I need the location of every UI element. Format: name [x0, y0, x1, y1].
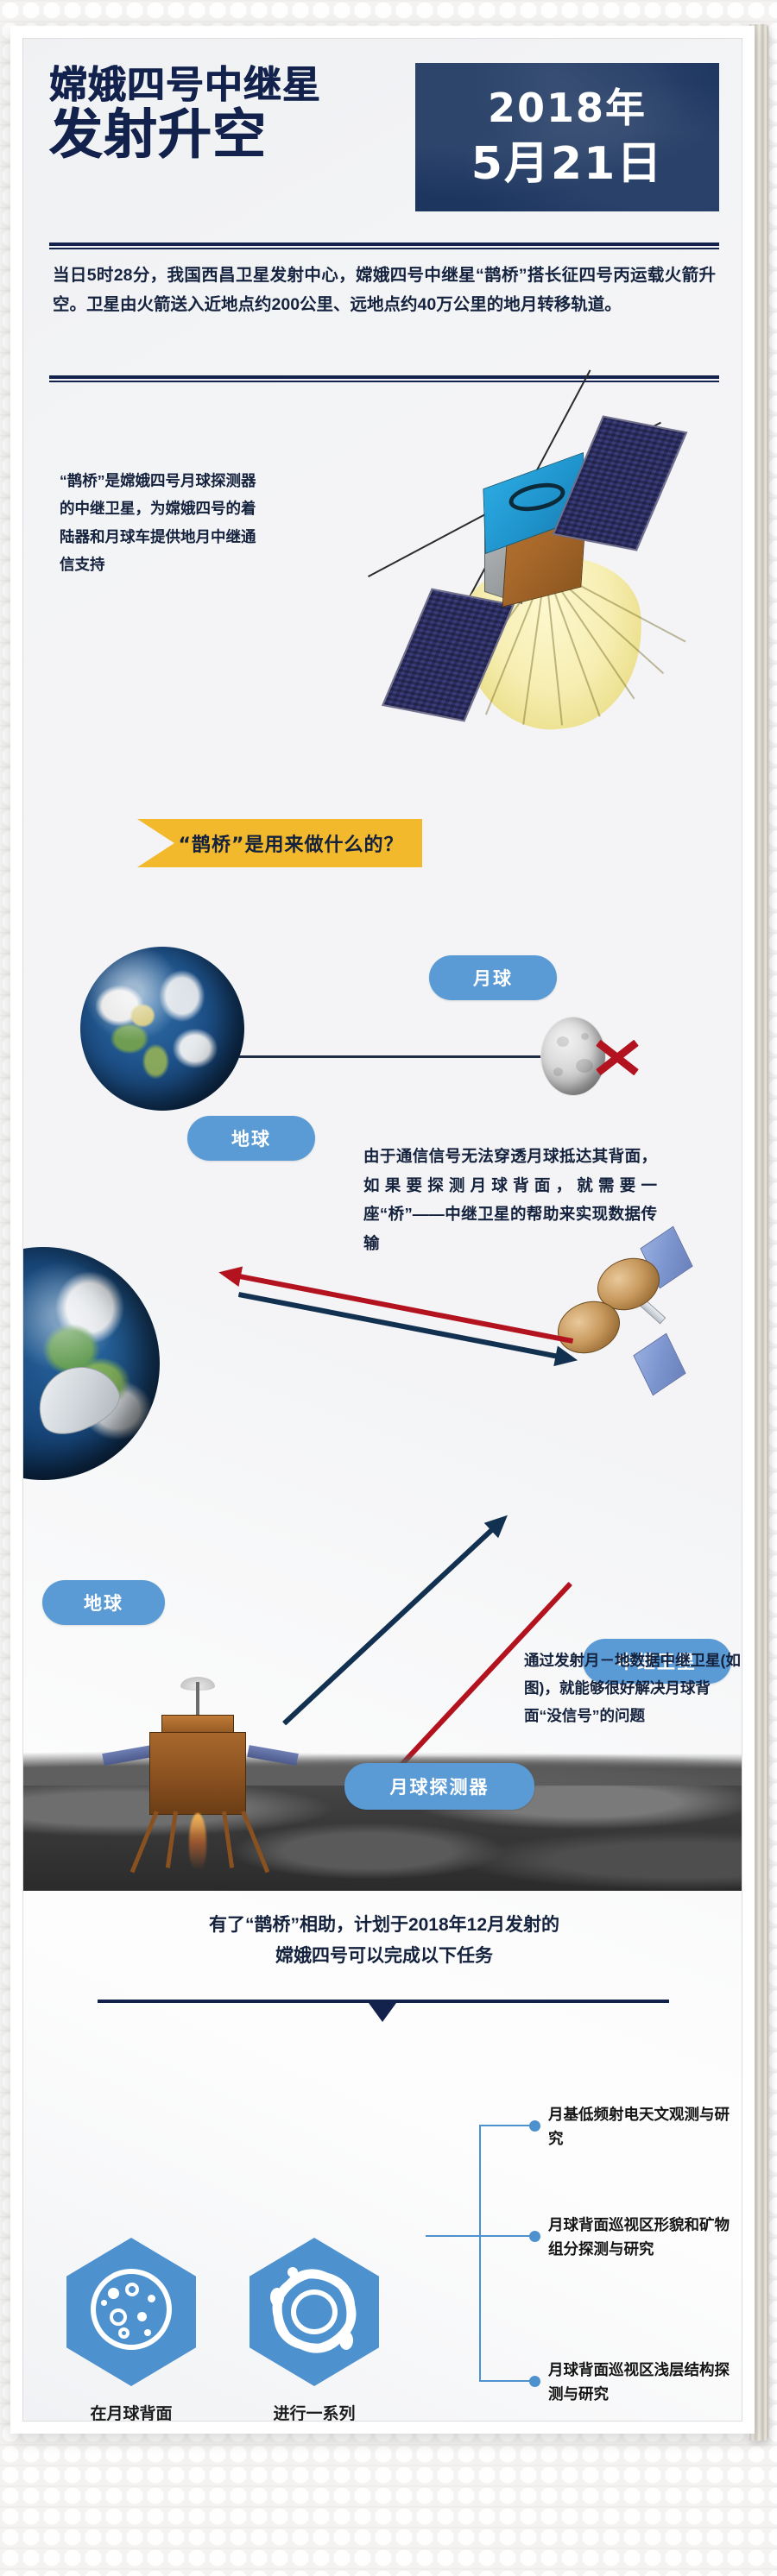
label-moon: 月球	[429, 955, 557, 1000]
intro-paragraph: 当日5时28分，我国西昌卫星发射中心，嫦娥四号中继星“鹊桥”搭长征四号丙运载火箭…	[53, 261, 716, 319]
label-earth-large-text: 地球	[84, 1590, 123, 1616]
hexagon-research-caption-l1: 进行一系列	[250, 2402, 379, 2422]
queqiao-satellite-icon	[395, 410, 679, 772]
hexagon-landing-caption-l1: 在月球背面	[66, 2402, 196, 2422]
page-title: 嫦娥四号中继星 发射升空	[49, 66, 429, 161]
lander-thruster-plume	[189, 1813, 206, 1870]
satellite-description: “鹊桥”是嫦娥四号月球探测器的中继卫星，为嫦娥四号的着陆器和月球车提供地月中继通…	[60, 467, 258, 579]
title-line-1: 嫦娥四号中继星	[49, 66, 429, 104]
task-connector-0	[479, 2125, 531, 2126]
task-connector-1	[426, 2235, 531, 2237]
label-earth-large: 地球	[42, 1580, 165, 1625]
relay-description: 通过发射月－地数据中继卫星(如图)，就能够很好解决月球背面“没信号”的问题	[524, 1647, 742, 1730]
earth-large-icon	[22, 1247, 160, 1480]
header: 嫦娥四号中继星 发射升空 2018年 5月21日	[49, 63, 719, 236]
mission-line-1: 有了“鹊桥”相助，计划于2018年12月发射的	[56, 1910, 712, 1941]
label-moon-text: 月球	[473, 965, 513, 991]
hexagon-landing	[66, 2238, 196, 2386]
task-bullet-1	[529, 2231, 540, 2242]
hexagon-landing-caption: 在月球背面 着陆	[66, 2402, 196, 2422]
date-year: 2018年	[488, 88, 647, 128]
lunar-lander-icon	[120, 1675, 281, 1874]
label-earth-text: 地球	[231, 1125, 271, 1151]
question-ribbon: “鹊桥”是用来做什么的？	[137, 819, 422, 867]
lander-body	[149, 1732, 246, 1815]
intro-divider	[49, 375, 719, 382]
relay-solar-panel-lower	[633, 1333, 685, 1396]
lander-mast	[196, 1682, 199, 1718]
signal-blocked-x-icon	[593, 1033, 640, 1080]
infographic-canvas: 嫦娥四号中继星 发射升空 2018年 5月21日 当日5时28分，我国西昌卫星发…	[22, 38, 742, 2422]
crater-moon-icon	[91, 2269, 172, 2350]
label-earth: 地球	[187, 1116, 315, 1161]
label-lunar-probe-text: 月球探测器	[390, 1773, 490, 1799]
task-connector-2	[479, 2380, 531, 2382]
satellite-section: “鹊桥”是嫦娥四号月球探测器的中继卫星，为嫦娥四号的着陆器和月球车提供地月中继通…	[23, 401, 742, 781]
label-lunar-probe: 月球探测器	[344, 1763, 534, 1810]
signal-path-line	[239, 1055, 550, 1058]
arrow-downlink-to-earth	[217, 1275, 572, 1344]
arrow-uplink-to-relay	[239, 1292, 578, 1357]
infographic-page: 嫦娥四号中继星 发射升空 2018年 5月21日 当日5时28分，我国西昌卫星发…	[10, 26, 755, 2434]
title-line-2: 发射升空	[49, 108, 429, 161]
task-item: 月球背面巡视区浅层结构探测与研究	[548, 2359, 742, 2406]
earth-globe-icon	[80, 947, 244, 1111]
question-ribbon-label: “鹊桥”是用来做什么的？	[156, 829, 404, 857]
header-divider	[49, 242, 719, 249]
atom-orbit-icon	[265, 2264, 363, 2359]
date-day: 5月21日	[471, 142, 664, 186]
hexagon-research	[250, 2238, 379, 2386]
hexagon-research-caption: 进行一系列 研究	[250, 2402, 379, 2422]
task-bullet-0	[529, 2120, 540, 2132]
task-item: 月球背面巡视区形貌和矿物组分探测与研究	[548, 2214, 742, 2261]
arrow-probe-to-relay	[282, 1509, 509, 1722]
mission-caret-icon	[369, 2003, 396, 2022]
mission-line-2: 嫦娥四号可以完成以下任务	[56, 1941, 712, 1972]
mission-statement: 有了“鹊桥”相助，计划于2018年12月发射的 嫦娥四号可以完成以下任务	[56, 1910, 712, 1972]
earth-moon-section: 月球 地球	[23, 893, 742, 1143]
relay-satellite-icon	[550, 1247, 705, 1411]
task-item: 月基低频射电天文观测与研究	[548, 2103, 742, 2151]
date-badge: 2018年 5月21日	[415, 63, 719, 211]
task-connector-vertical	[479, 2126, 481, 2381]
task-bullet-2	[529, 2376, 540, 2387]
